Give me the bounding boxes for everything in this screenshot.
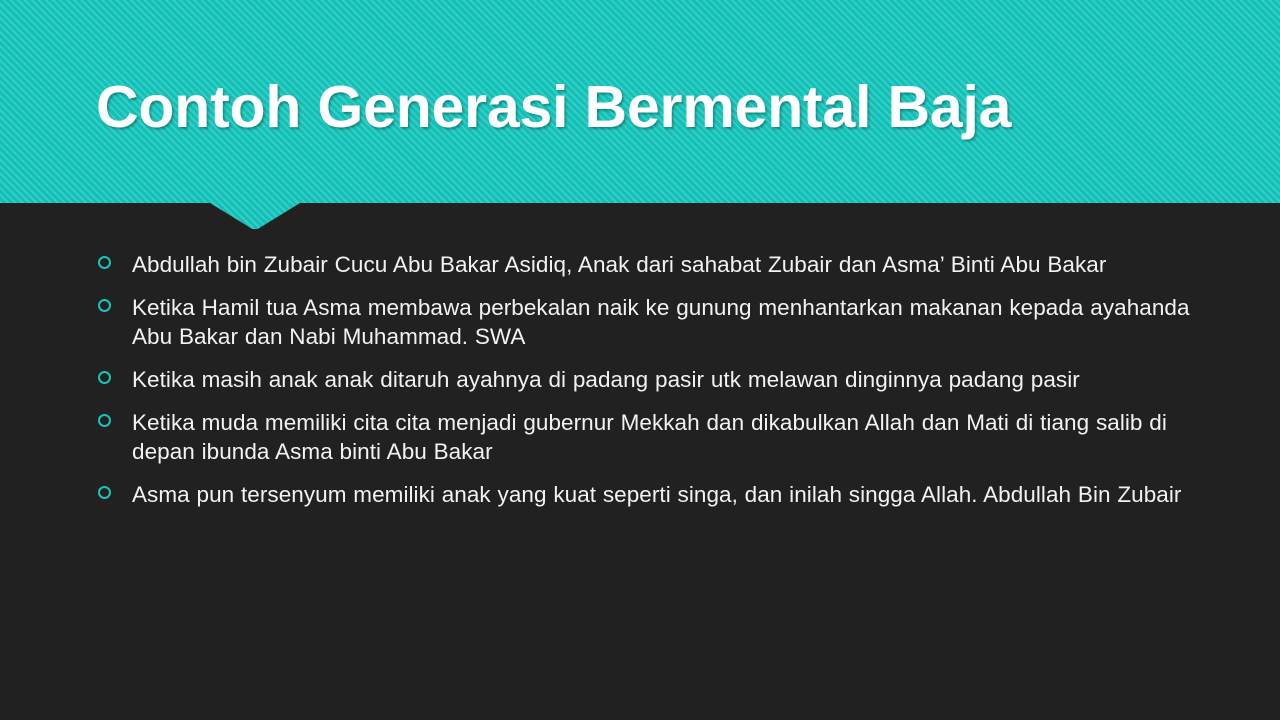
list-item: Abdullah bin Zubair Cucu Abu Bakar Asidi… (96, 250, 1216, 279)
hollow-circle-bullet-icon (98, 414, 111, 427)
list-item-text: Asma pun tersenyum memiliki anak yang ku… (132, 480, 1216, 509)
list-item: Ketika masih anak anak ditaruh ayahnya d… (96, 365, 1216, 394)
list-item-text: Ketika Hamil tua Asma membawa perbekalan… (132, 293, 1216, 351)
hollow-circle-bullet-icon (98, 256, 111, 269)
hollow-circle-bullet-icon (98, 299, 111, 312)
list-item-text: Abdullah bin Zubair Cucu Abu Bakar Asidi… (132, 250, 1216, 279)
bullet-list: Abdullah bin Zubair Cucu Abu Bakar Asidi… (96, 250, 1216, 523)
list-item-text: Ketika masih anak anak ditaruh ayahnya d… (132, 365, 1216, 394)
list-item: Ketika muda memiliki cita cita menjadi g… (96, 408, 1216, 466)
banner-chevron-notch (210, 203, 300, 229)
hollow-circle-bullet-icon (98, 371, 111, 384)
list-item-text: Ketika muda memiliki cita cita menjadi g… (132, 408, 1216, 466)
presentation-slide: Contoh Generasi Bermental Baja Abdullah … (0, 0, 1280, 720)
list-item: Asma pun tersenyum memiliki anak yang ku… (96, 480, 1216, 509)
page-title: Contoh Generasi Bermental Baja (96, 76, 1196, 140)
list-item: Ketika Hamil tua Asma membawa perbekalan… (96, 293, 1216, 351)
hollow-circle-bullet-icon (98, 486, 111, 499)
